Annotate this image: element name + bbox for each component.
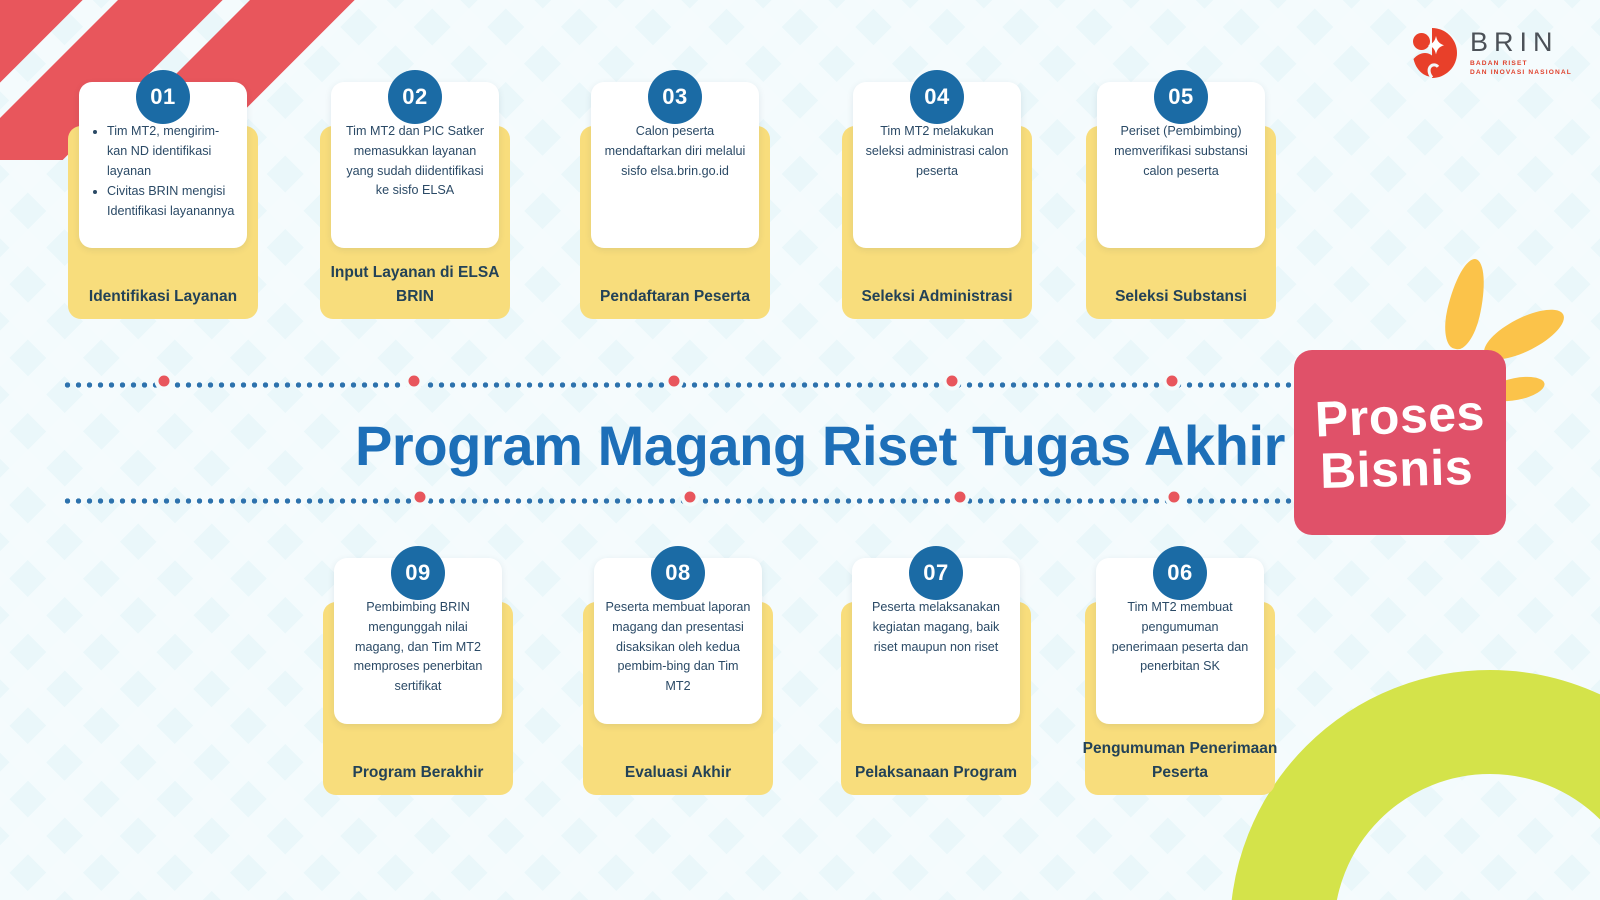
step-number-badge: 02 [388,70,442,124]
step-number-badge: 03 [648,70,702,124]
step-number-badge: 01 [136,70,190,124]
step-caption: Program Berakhir [323,761,513,785]
step-bubble: 01 Tim MT2, mengirim-kan ND identifikasi… [79,82,247,248]
step-bubble: 03 Calon peserta mendaftarkan diri melal… [591,82,759,248]
step-description: Pembimbing BRIN mengunggah nilai magang,… [345,598,491,697]
infographic-canvas: BRIN BADAN RISET DAN INOVASI NASIONAL Pr… [0,0,1600,900]
brin-tagline-line1: BADAN RISET [1470,61,1572,68]
step-bubble: 06 Tim MT2 membuat pengumuman penerimaan… [1096,558,1264,724]
brin-logo-mark-icon [1405,26,1459,80]
step-number-badge: 06 [1153,546,1207,600]
step-card-04[interactable]: 04 Tim MT2 melakukan seleksi administras… [842,82,1032,319]
step-card-01[interactable]: 01 Tim MT2, mengirim-kan ND identifikasi… [68,82,258,319]
spark-shape-1 [1439,255,1492,352]
timeline-dot [1165,488,1184,507]
step-card-09[interactable]: 09 Pembimbing BRIN mengunggah nilai maga… [323,558,513,795]
timeline-dot [951,488,970,507]
brin-tagline-line2: DAN INOVASI NASIONAL [1470,70,1572,77]
step-description: Tim MT2 dan PIC Satker memasukkan layana… [342,122,488,201]
step-caption: Pelaksanaan Program [841,761,1031,785]
green-arc-decoration [1230,670,1600,900]
timeline-rail-top [62,381,1308,389]
step-description: Peserta melaksanakan kegiatan magang, ba… [863,598,1009,657]
step-caption: Pengumuman Penerimaan Peserta [1080,737,1280,785]
timeline-dot [681,488,700,507]
step-card-03[interactable]: 03 Calon peserta mendaftarkan diri melal… [580,82,770,319]
step-bubble: 05 Periset (Pembimbing) memverifikasi su… [1097,82,1265,248]
step-caption: Pendaftaran Peserta [580,285,770,309]
step-card-02[interactable]: 02 Tim MT2 dan PIC Satker memasukkan lay… [320,82,510,319]
badge-line-2: Bisnis [1320,441,1474,498]
step-number-badge: 05 [1154,70,1208,124]
step-description: Periset (Pembimbing) memverifikasi subst… [1108,122,1254,181]
step-card-05[interactable]: 05 Periset (Pembimbing) memverifikasi su… [1086,82,1276,319]
step-caption: Seleksi Substansi [1086,285,1276,309]
step-caption: Identifikasi Layanan [68,285,258,309]
step-description: Peserta membuat laporan magang dan prese… [605,598,751,697]
step-caption: Seleksi Administrasi [842,285,1032,309]
step-bullet: Tim MT2, mengirim-kan ND identifikasi la… [107,122,236,181]
step-description: Calon peserta mendaftarkan diri melalui … [602,122,748,181]
brin-logo: BRIN BADAN RISET DAN INOVASI NASIONAL [1405,26,1572,80]
step-caption: Input Layanan di ELSA BRIN [320,261,510,309]
step-number-badge: 07 [909,546,963,600]
step-card-08[interactable]: 08 Peserta membuat laporan magang dan pr… [583,558,773,795]
step-bullet: Civitas BRIN mengisi Identifikasi layana… [107,182,236,222]
step-number-badge: 04 [910,70,964,124]
step-description: Tim MT2 membuat pengumuman penerimaan pe… [1107,598,1253,677]
timeline-dot [1163,372,1182,391]
step-number-badge: 08 [651,546,705,600]
step-bubble: 08 Peserta membuat laporan magang dan pr… [594,558,762,724]
step-card-07[interactable]: 07 Peserta melaksanakan kegiatan magang,… [841,558,1031,795]
step-bubble: 02 Tim MT2 dan PIC Satker memasukkan lay… [331,82,499,248]
step-description: Tim MT2 melakukan seleksi administrasi c… [864,122,1010,181]
brin-name: BRIN [1470,29,1572,56]
proses-bisnis-badge: Proses Bisnis [1294,350,1506,535]
step-description: Tim MT2, mengirim-kan ND identifikasi la… [90,122,236,222]
step-number-badge: 09 [391,546,445,600]
step-bubble: 04 Tim MT2 melakukan seleksi administras… [853,82,1021,248]
step-caption: Evaluasi Akhir [583,761,773,785]
brin-wordmark: BRIN BADAN RISET DAN INOVASI NASIONAL [1470,29,1572,76]
timeline-dot [405,372,424,391]
step-bubble: 07 Peserta melaksanakan kegiatan magang,… [852,558,1020,724]
timeline-dot [943,372,962,391]
timeline-dot [665,372,684,391]
step-bubble: 09 Pembimbing BRIN mengunggah nilai maga… [334,558,502,724]
step-card-06[interactable]: 06 Tim MT2 membuat pengumuman penerimaan… [1085,558,1275,795]
timeline-dot [155,372,174,391]
badge-line-1: Proses [1314,386,1486,446]
timeline-dot [411,488,430,507]
timeline-rail-bottom [62,497,1308,505]
